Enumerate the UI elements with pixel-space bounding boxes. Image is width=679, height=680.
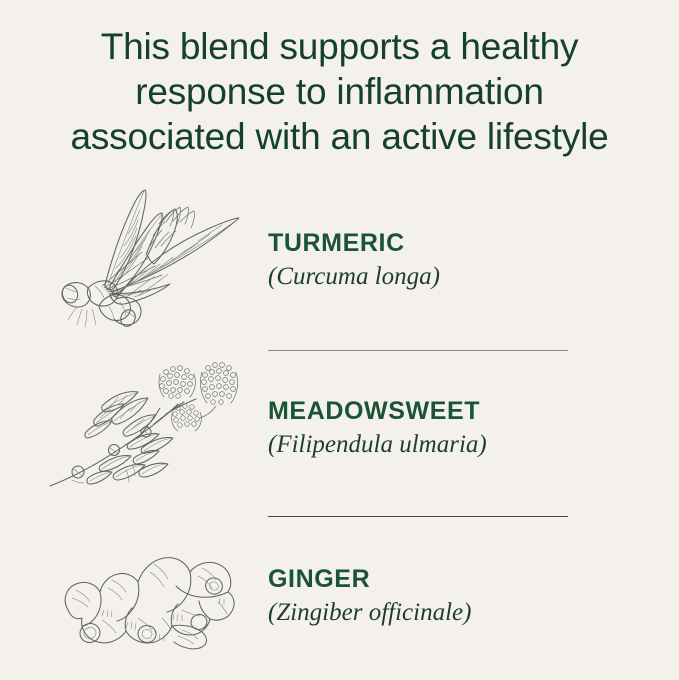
page-title: This blend supports a healthy response t…: [30, 24, 649, 159]
ginger-text-block: GINGER (Zingiber officinale): [268, 512, 608, 680]
meadowsweet-text-block: MEADOWSWEET (Filipendula ulmaria): [268, 344, 608, 512]
headline-line-2: response to inflammation: [30, 69, 649, 114]
turmeric-text-block: TURMERIC (Curcuma longa): [268, 176, 608, 344]
ingredient-latin-name: (Filipendula ulmaria): [268, 430, 608, 460]
ingredient-benefits-panel: This blend supports a healthy response t…: [0, 0, 679, 679]
ingredient-row-meadowsweet: MEADOWSWEET (Filipendula ulmaria): [0, 344, 679, 512]
ingredient-latin-name: (Zingiber officinale): [268, 598, 608, 628]
ingredient-common-name: GINGER: [268, 564, 608, 594]
headline-line-1: This blend supports a healthy: [30, 24, 649, 69]
ingredient-common-name: TURMERIC: [268, 228, 608, 258]
ginger-root-illustration: [42, 514, 258, 678]
ingredient-latin-name: (Curcuma longa): [268, 262, 608, 292]
ingredient-row-ginger: GINGER (Zingiber officinale): [0, 512, 679, 680]
headline-line-3: associated with an active lifestyle: [30, 114, 649, 159]
ingredient-common-name: MEADOWSWEET: [268, 396, 608, 426]
meadowsweet-plant-illustration: [42, 346, 258, 510]
ingredient-row-turmeric: TURMERIC (Curcuma longa): [0, 176, 679, 344]
turmeric-plant-illustration: [42, 178, 258, 342]
